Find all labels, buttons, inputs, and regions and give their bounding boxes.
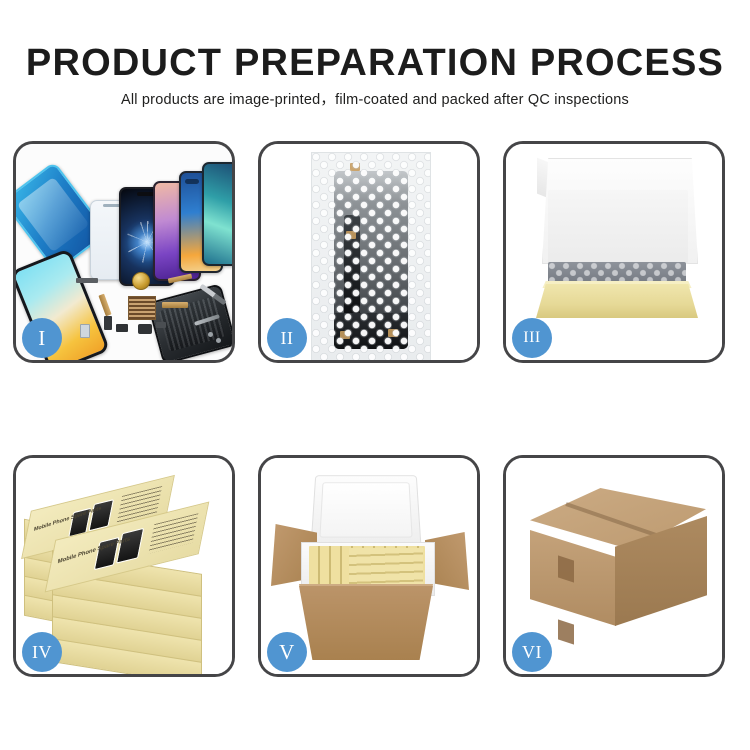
part-connector (76, 278, 98, 283)
step-5-image: V (261, 458, 477, 674)
spare-parts-cluster (76, 272, 226, 354)
process-step-4: Mobile Phone Spare Parts Mobile Phone Sp… (13, 455, 235, 677)
part-screw-a (208, 332, 213, 337)
process-step-1: I (13, 141, 235, 363)
teal-phone (202, 162, 235, 266)
step-badge: II (267, 318, 307, 358)
tweezers-tool (194, 314, 220, 326)
part-speaker (116, 324, 128, 332)
part-earpiece (138, 324, 152, 334)
part-flex-cable-b (162, 302, 188, 308)
part-flex-cable-a (168, 274, 193, 284)
foam-lid (311, 475, 422, 546)
part-sim-tray (80, 324, 90, 338)
step-2-image: II (261, 144, 477, 360)
inner-boxes-row-b (349, 548, 423, 586)
part-chip-grid (128, 296, 156, 320)
bubble-highlights (312, 153, 430, 361)
header: PRODUCT PREPARATION PROCESS All products… (0, 0, 750, 125)
process-step-grid: I II (13, 141, 737, 677)
step-3-image: III (506, 144, 722, 360)
box-text-lines-front (148, 513, 198, 553)
product-preparation-infographic: PRODUCT PREPARATION PROCESS All products… (0, 0, 750, 750)
step-badge: V (267, 632, 307, 672)
step-4-image: Mobile Phone Spare Parts Mobile Phone Sp… (16, 458, 232, 674)
step-badge: III (512, 318, 552, 358)
step-badge: VI (512, 632, 552, 672)
yellow-box-tray (536, 284, 698, 318)
step-badge: I (22, 318, 62, 358)
part-flex-cable-c (98, 294, 111, 317)
page-title: PRODUCT PREPARATION PROCESS (0, 42, 750, 85)
step-badge: IV (22, 632, 62, 672)
part-camera-module (104, 316, 112, 330)
carton-body (299, 586, 433, 660)
part-vibration-motor (132, 272, 150, 290)
step-1-image: I (16, 144, 232, 360)
carton-tape-lower (558, 619, 574, 644)
part-screw-b (216, 338, 221, 343)
foam-backing (548, 190, 688, 264)
step-6-image: VI (506, 458, 722, 674)
box-window-front-b (116, 528, 144, 564)
page-subtitle: All products are image-printed，film-coat… (0, 88, 750, 109)
bubble-wrap-bag (311, 152, 431, 362)
process-step-3: III (503, 141, 725, 363)
process-step-5: V (258, 455, 480, 677)
process-step-2: II (258, 141, 480, 363)
screwdriver-tool (199, 284, 226, 306)
process-step-6: VI (503, 455, 725, 677)
part-button-flex (156, 322, 166, 328)
